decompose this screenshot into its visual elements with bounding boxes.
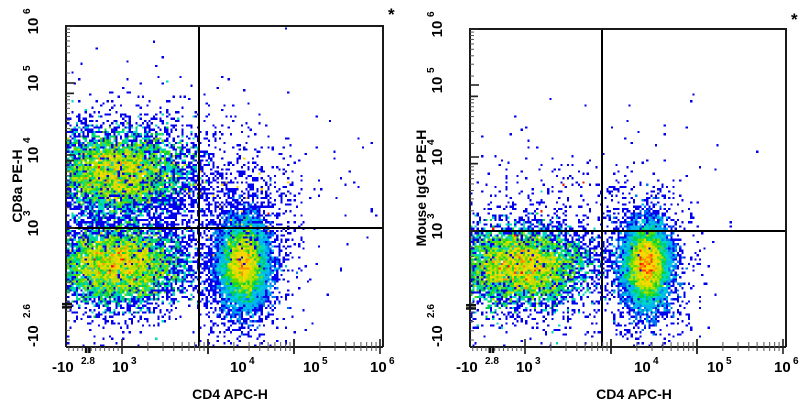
right-y-tick-1-base: 10 xyxy=(429,77,446,94)
left-asterisk-marker: * xyxy=(388,5,395,24)
left-x-tick-0-exp: 2.8 xyxy=(81,356,95,367)
right-y-axis-title: Mouse IgG1 PE-H xyxy=(413,130,429,247)
flow-cytometry-figure: 10 6 10 5 10 4 10 3 -10 2.6 xyxy=(0,0,806,408)
left-y-tick-4-base: -10 xyxy=(25,325,42,347)
right-y-tick-1-exp: 5 xyxy=(426,67,437,73)
right-y-tick-4-exp: 2.6 xyxy=(426,304,437,318)
left-y-tick-0-exp: 6 xyxy=(22,8,33,14)
right-y-tick-0-exp: 6 xyxy=(426,11,437,17)
left-plot-svg: 10 6 10 5 10 4 10 3 -10 2.6 xyxy=(0,0,403,408)
left-x-tick-2-base: 10 xyxy=(230,359,247,376)
right-y-tick-3-base: 10 xyxy=(429,223,446,240)
left-y-tick-3-base: 10 xyxy=(25,220,42,237)
left-dotplot-panel: 10 6 10 5 10 4 10 3 -10 2.6 xyxy=(0,0,403,408)
right-x-tick-3-exp: 5 xyxy=(726,356,732,367)
left-y-tick-1-base: 10 xyxy=(25,75,42,92)
left-y-tick-2-exp: 4 xyxy=(22,137,33,143)
right-x-tick-labels: -10 2.8 10 3 10 4 10 5 10 6 xyxy=(456,356,799,376)
left-y-tick-1-exp: 5 xyxy=(22,65,33,71)
left-x-tick-2-exp: 4 xyxy=(249,356,255,367)
left-x-tick-3-exp: 5 xyxy=(322,356,328,367)
right-y-tick-labels: 10 6 10 5 10 4 10 3 -10 2.6 xyxy=(426,11,446,347)
left-x-tick-3-base: 10 xyxy=(303,359,320,376)
right-y-tick-4-base: -10 xyxy=(429,325,446,347)
left-x-tick-4-base: 10 xyxy=(370,359,387,376)
left-x-tick-4-exp: 6 xyxy=(389,356,395,367)
left-x-tick-labels: -10 2.8 10 3 10 4 10 5 10 6 xyxy=(52,356,395,376)
right-x-tick-4-exp: 6 xyxy=(793,356,799,367)
left-y-tick-4-exp: 2.6 xyxy=(22,304,33,318)
right-y-tick-0-base: 10 xyxy=(429,21,446,38)
right-x-tick-2-base: 10 xyxy=(634,359,651,376)
right-x-axis-title: CD4 APC-H xyxy=(596,386,672,402)
left-y-tick-2-base: 10 xyxy=(25,147,42,164)
right-plot-svg: 10 6 10 5 10 4 10 3 -10 2.6 xyxy=(403,0,806,408)
left-x-tick-1-base: 10 xyxy=(112,359,129,376)
right-asterisk-marker: * xyxy=(791,10,798,29)
left-y-tick-0-base: 10 xyxy=(25,18,42,35)
left-x-axis-title: CD4 APC-H xyxy=(192,386,268,402)
left-x-tick-0-base: -10 xyxy=(52,359,74,376)
right-dotplot-panel: 10 6 10 5 10 4 10 3 -10 2.6 xyxy=(403,0,806,408)
right-x-tick-1-base: 10 xyxy=(516,359,533,376)
right-x-tick-4-base: 10 xyxy=(774,359,791,376)
right-x-tick-1-exp: 3 xyxy=(535,356,541,367)
right-y-tick-2-base: 10 xyxy=(429,149,446,166)
right-x-tick-0-base: -10 xyxy=(456,359,478,376)
left-x-tick-1-exp: 3 xyxy=(131,356,137,367)
right-x-tick-2-exp: 4 xyxy=(653,356,659,367)
left-y-tick-labels: 10 6 10 5 10 4 10 3 -10 2.6 xyxy=(22,8,42,347)
right-x-tick-0-exp: 2.8 xyxy=(485,356,499,367)
left-y-axis-title: CD8a PE-H xyxy=(9,149,25,222)
right-x-tick-3-base: 10 xyxy=(707,359,724,376)
